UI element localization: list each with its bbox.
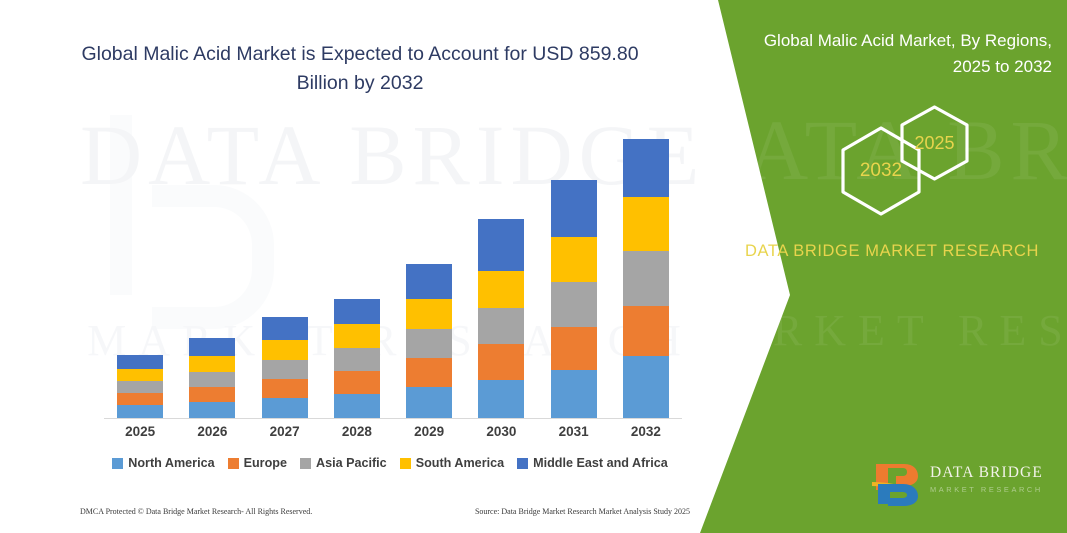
x-axis-line <box>104 418 682 419</box>
bar-segment <box>478 271 524 308</box>
legend-item[interactable]: Asia Pacific <box>300 456 387 470</box>
bar-segment <box>623 197 669 251</box>
bar-segment <box>406 264 452 299</box>
legend-item[interactable]: South America <box>400 456 504 470</box>
bar-segment <box>551 327 597 370</box>
bar-segment <box>623 251 669 306</box>
bar-segment <box>478 308 524 344</box>
bar-segment <box>189 402 235 418</box>
legend-swatch <box>517 458 528 469</box>
chart-legend: North AmericaEuropeAsia PacificSouth Ame… <box>95 456 685 470</box>
bar-stack-2032 <box>623 139 669 418</box>
green-panel-content: DATA BRIDGE MARKET RESEARCH Global Malic… <box>718 0 1067 533</box>
hexagon-2025: 2025 <box>898 104 971 182</box>
bar-segment <box>262 340 308 360</box>
bar-segment <box>334 394 380 418</box>
bar-segment <box>478 344 524 380</box>
brand-name: DATA BRIDGE MARKET RESEARCH <box>742 238 1042 264</box>
bar-segment <box>189 387 235 402</box>
bar-segment <box>262 398 308 418</box>
bar-segment <box>334 324 380 348</box>
legend-swatch <box>228 458 239 469</box>
bar-segment <box>117 381 163 393</box>
bar-segment <box>262 379 308 398</box>
footer: DMCA Protected © Data Bridge Market Rese… <box>80 507 690 516</box>
bar-stack-2030 <box>478 219 524 418</box>
hexagon-2025-label: 2025 <box>914 133 954 154</box>
bar-segment <box>551 370 597 418</box>
bar-stack-2028 <box>334 299 380 418</box>
legend-label: North America <box>128 456 214 470</box>
logo-text-block: DATA BRIDGE MARKET RESEARCH <box>930 464 1060 494</box>
bar-stack-2025 <box>117 355 163 418</box>
bar-segment <box>117 355 163 369</box>
bar-segment <box>189 372 235 387</box>
bar-segment <box>117 405 163 418</box>
bar-segment <box>551 237 597 282</box>
legend-label: South America <box>416 456 504 470</box>
bar-segment <box>623 356 669 418</box>
x-axis-label-2029: 2029 <box>394 424 464 439</box>
bar-segment <box>189 338 235 356</box>
x-axis-label-2031: 2031 <box>539 424 609 439</box>
legend-label: Middle East and Africa <box>533 456 668 470</box>
bar-stack-2029 <box>406 264 452 418</box>
bar-segment <box>406 299 452 329</box>
legend-swatch <box>300 458 311 469</box>
legend-swatch <box>112 458 123 469</box>
x-axis-label-2026: 2026 <box>177 424 247 439</box>
panel-watermark-line2: MARKET RESEARCH <box>678 305 1067 356</box>
bar-segment <box>406 329 452 358</box>
legend-label: Asia Pacific <box>316 456 387 470</box>
bar-segment <box>117 369 163 381</box>
bar-segment <box>334 299 380 324</box>
x-axis-label-2032: 2032 <box>611 424 681 439</box>
x-axis-label-2030: 2030 <box>466 424 536 439</box>
stacked-bar-plot <box>104 110 682 418</box>
bar-segment <box>189 356 235 372</box>
bar-segment <box>406 358 452 387</box>
x-axis-label-2025: 2025 <box>105 424 175 439</box>
legend-item[interactable]: Middle East and Africa <box>517 456 668 470</box>
logo-title: DATA BRIDGE <box>930 464 1060 482</box>
hexagon-2032-label: 2032 <box>860 160 902 182</box>
bar-segment <box>334 371 380 394</box>
bar-segment <box>478 380 524 418</box>
panel-title: Global Malic Acid Market, By Regions, 20… <box>744 28 1052 80</box>
legend-item[interactable]: Europe <box>228 456 287 470</box>
bar-segment <box>117 393 163 405</box>
bar-stack-2027 <box>262 317 308 418</box>
infographic-page: DATA BRIDGE MARKET RESEARCH Global Malic… <box>0 0 1067 533</box>
chart-title: Global Malic Acid Market is Expected to … <box>60 40 660 98</box>
bar-segment <box>551 282 597 327</box>
legend-swatch <box>400 458 411 469</box>
footer-source: Source: Data Bridge Market Research Mark… <box>475 507 690 516</box>
logo-subtitle: MARKET RESEARCH <box>930 485 1060 494</box>
x-axis-labels: 20252026202720282029203020312032 <box>104 424 682 448</box>
footer-copyright: DMCA Protected © Data Bridge Market Rese… <box>80 507 312 516</box>
bar-stack-2026 <box>189 338 235 418</box>
bar-segment <box>623 306 669 356</box>
bar-segment <box>623 139 669 197</box>
bar-segment <box>334 348 380 371</box>
data-bridge-logo-mark-icon <box>870 460 924 508</box>
bar-segment <box>478 219 524 271</box>
bar-segment <box>262 360 308 379</box>
legend-label: Europe <box>244 456 287 470</box>
bar-segment <box>551 180 597 237</box>
x-axis-label-2027: 2027 <box>250 424 320 439</box>
bar-segment <box>262 317 308 340</box>
x-axis-label-2028: 2028 <box>322 424 392 439</box>
data-bridge-logo: DATA BRIDGE MARKET RESEARCH <box>870 458 1060 510</box>
bar-stack-2031 <box>551 180 597 418</box>
chart-panel: DATA BRIDGE MARKET RESEARCH Global Malic… <box>0 0 720 533</box>
bar-segment <box>406 387 452 418</box>
legend-item[interactable]: North America <box>112 456 214 470</box>
